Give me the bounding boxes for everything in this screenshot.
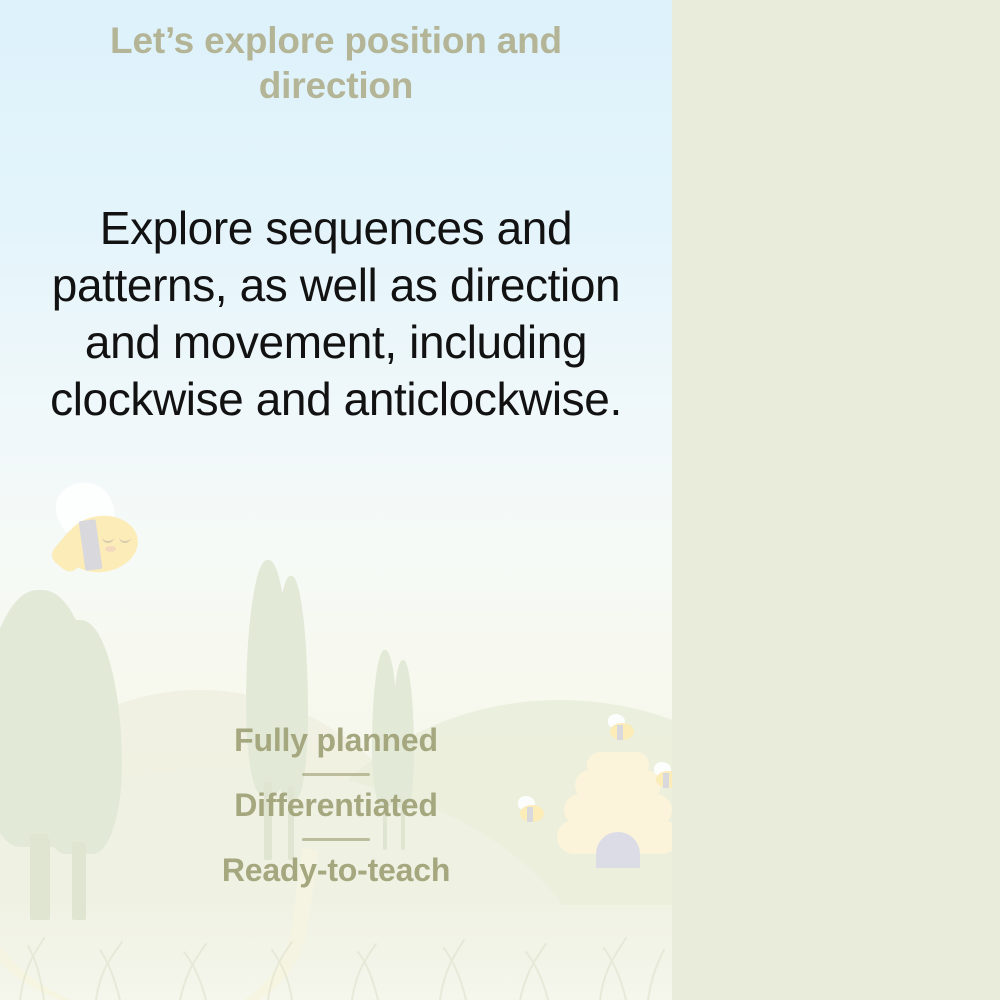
tagline-divider	[302, 773, 370, 776]
grass-icon	[0, 904, 672, 1000]
resources-sidebar: 5 x Lesson Plans 5 x Slideshows	[672, 0, 1000, 1000]
poster-page: Let’s explore position and direction Exp…	[0, 0, 1000, 1000]
tagline-differentiated: Differentiated	[36, 787, 636, 825]
bee-icon	[648, 762, 672, 788]
tagline-group: Fully planned Differentiated Ready-to-te…	[36, 722, 636, 889]
tagline-divider	[302, 838, 370, 841]
tagline-ready-to-teach: Ready-to-teach	[36, 852, 636, 890]
left-panel: Let’s explore position and direction Exp…	[0, 0, 672, 1000]
page-title: Let’s explore position and direction	[36, 18, 636, 108]
bee-icon	[38, 482, 146, 578]
body-description: Explore sequences and patterns, as well …	[26, 200, 646, 428]
tagline-fully-planned: Fully planned	[36, 722, 636, 760]
